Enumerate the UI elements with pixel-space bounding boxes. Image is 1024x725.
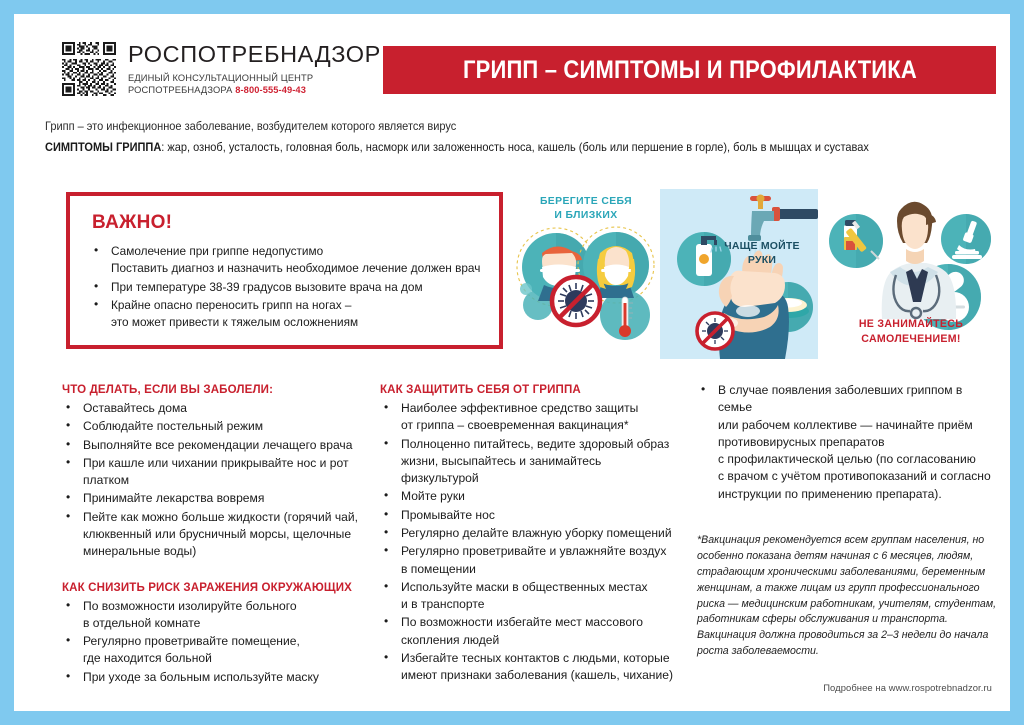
handwashing-illustration: [660, 189, 818, 359]
intro-line-1: Грипп – это инфекционное заболевание, во…: [45, 118, 938, 135]
wash-caption-line1: ЧАЩЕ МОЙТЕ: [724, 240, 799, 252]
left-s1-item-5-cont2: минеральные воды): [83, 543, 370, 560]
important-item-0-text: Самолечение при гриппе недопустимо: [111, 244, 323, 258]
list-item: При уходе за больным используйте маску: [62, 669, 370, 686]
what-to-do-list: Оставайтесь дома Соблюдайте постельный р…: [62, 400, 370, 561]
poster-outer-frame: РОСПОТРЕБНАДЗОР ЕДИНЫЙ КОНСУЛЬТАЦИОННЫЙ …: [0, 0, 1024, 725]
wash-hands-panel: ЧАЩЕ МОЙТЕ РУКИ: [660, 189, 818, 359]
no-virus-sign-small-icon: [696, 312, 734, 350]
list-item: Регулярно проветривайте и увлажняйте воз…: [380, 543, 690, 578]
section-heading-reduce-risk: КАК СНИЗИТЬ РИСК ЗАРАЖЕНИЯ ОКРУЖАЮЩИХ: [62, 580, 348, 594]
no-selfmed-line2: САМОЛЕЧЕНИЕМ!: [861, 333, 960, 345]
left-s1-item-5: Пейте как можно больше жидкости (горячий…: [83, 510, 358, 524]
mid-item-6: Используйте маски в общественных местах: [401, 580, 648, 594]
left-s2-item-0-cont: в отдельной комнате: [83, 615, 370, 632]
left-s1-item-2: Выполняйте все рекомендации лечащего вра…: [83, 438, 352, 452]
mid-item-6-cont: и в транспорте: [401, 596, 690, 613]
intro-line-2: СИМПТОМЫ ГРИППА: жар, озноб, усталость, …: [45, 139, 938, 156]
mid-item-0-cont: от гриппа – своевременная вакцинация*: [401, 417, 690, 434]
hotline-phone: 8-800-555-49-43: [235, 85, 306, 95]
important-item-0-cont: Поставить диагноз и назначить необходимо…: [111, 260, 485, 277]
left-s1-item-0: Оставайтесь дома: [83, 401, 187, 415]
right-item-0-cont2: противовирусных препаратов: [718, 434, 997, 451]
list-item: Пейте как можно больше жидкости (горячий…: [62, 509, 370, 561]
masked-people-illustration: [512, 223, 660, 353]
list-item: Регулярно проветривайте помещение, где н…: [62, 633, 370, 668]
list-item: Соблюдайте постельный режим: [62, 418, 370, 435]
mid-item-1: Полноценно питайтесь, ведите здоровый об…: [401, 437, 669, 451]
list-item: Промывайте нос: [380, 507, 690, 524]
mid-item-8-cont: имеют признаки заболевания (кашель, чиха…: [401, 667, 690, 684]
poster-header: РОСПОТРЕБНАДЗОР ЕДИНЫЙ КОНСУЛЬТАЦИОННЫЙ …: [14, 14, 1010, 102]
left-s1-item-3-cont: платком: [83, 472, 370, 489]
section-heading-what-to-do: ЧТО ДЕЛАТЬ, ЕСЛИ ВЫ ЗАБОЛЕЛИ:: [62, 382, 348, 396]
right-item-0-cont: или рабочем коллективе — начинайте приём: [718, 417, 997, 434]
rospotrebnadzor-logo: РОСПОТРЕБНАДЗОР ЕДИНЫЙ КОНСУЛЬТАЦИОННЫЙ …: [62, 42, 381, 96]
poster: РОСПОТРЕБНАДЗОР ЕДИНЫЙ КОНСУЛЬТАЦИОННЫЙ …: [14, 14, 1010, 711]
wash-caption-line2: РУКИ: [748, 254, 776, 266]
list-item: Мойте руки: [380, 488, 690, 505]
mid-item-7: По возможности избегайте мест массового: [401, 615, 643, 629]
list-item: Оставайтесь дома: [62, 400, 370, 417]
mid-item-8: Избегайте тесных контактов с людьми, кот…: [401, 651, 670, 665]
no-virus-sign-icon: [551, 276, 601, 326]
right-item-0-cont3: с профилактической целью (по согласовани…: [718, 451, 997, 468]
right-item-0-cont5: инструкции по применению препарата).: [718, 486, 997, 503]
no-selfmedication-caption: НЕ ЗАНИМАЙТЕСЬ САМОЛЕЧЕНИЕМ!: [826, 317, 996, 347]
banner-title: ГРИПП – СИМПТОМЫ И ПРОФИЛАКТИКА: [462, 56, 916, 85]
logo-title: РОСПОТРЕБНАДЗОР: [128, 43, 381, 67]
list-item: Самолечение при гриппе недопустимо Поста…: [92, 243, 485, 277]
how-to-protect-list: Наиболее эффективное средство защиты от …: [380, 400, 690, 685]
list-item: Полноценно питайтесь, ведите здоровый об…: [380, 436, 690, 488]
logo-text-block: РОСПОТРЕБНАДЗОР ЕДИНЫЙ КОНСУЛЬТАЦИОННЫЙ …: [128, 42, 381, 96]
symptoms-label: СИМПТОМЫ ГРИППА: [45, 141, 161, 154]
list-item: Крайне опасно переносить грипп на ногах …: [92, 297, 485, 331]
symptoms-list: : жар, озноб, усталость, головная боль, …: [161, 141, 869, 154]
list-item: Регулярно делайте влажную уборку помещен…: [380, 525, 690, 542]
logo-subtitle: ЕДИНЫЙ КОНСУЛЬТАЦИОННЫЙ ЦЕНТР РОСПОТРЕБН…: [128, 72, 381, 97]
doctor-panel: НЕ ЗАНИМАЙТЕСЬ САМОЛЕЧЕНИЕМ!: [826, 189, 996, 359]
qr-code-icon: [62, 42, 116, 96]
mid-item-0: Наиболее эффективное средство защиты: [401, 401, 638, 415]
protect-yourself-panel: БЕРЕГИТЕ СЕБЯ И БЛИЗКИХ: [512, 189, 660, 359]
left-s2-item-1-cont: где находится больной: [83, 650, 370, 667]
mid-item-5-cont: в помещении: [401, 561, 690, 578]
protect-caption-line2: И БЛИЗКИХ: [554, 210, 617, 221]
list-item: Принимайте лекарства вовремя: [62, 490, 370, 507]
left-s2-item-2: При уходе за больным используйте маску: [83, 670, 319, 684]
left-s1-item-3: При кашле или чихании прикрывайте нос и …: [83, 456, 348, 470]
no-selfmed-line1: НЕ ЗАНИМАЙТЕСЬ: [859, 318, 963, 330]
reduce-risk-list: По возможности изолируйте больного в отд…: [62, 598, 370, 686]
left-s1-item-4: Принимайте лекарства вовремя: [83, 491, 264, 505]
illustration-strip: БЕРЕГИТЕ СЕБЯ И БЛИЗКИХ: [512, 189, 996, 359]
mid-item-5: Регулярно проветривайте и увлажняйте воз…: [401, 544, 666, 558]
list-item: По возможности изолируйте больного в отд…: [62, 598, 370, 633]
protect-caption-line1: БЕРЕГИТЕ СЕБЯ: [540, 196, 632, 207]
mid-item-1-cont: жизни, высыпайтесь и занимайтесь: [401, 453, 690, 470]
list-item: При кашле или чихании прикрывайте нос и …: [62, 455, 370, 490]
doctor-illustration: [826, 189, 996, 334]
right-item-0-cont4: с врачом с учётом противопоказаний и сог…: [718, 468, 997, 485]
mid-item-2: Мойте руки: [401, 489, 465, 503]
intro-text: Грипп – это инфекционное заболевание, во…: [45, 118, 985, 157]
important-item-2-cont: это может привести к тяжелым осложнениям: [111, 314, 485, 331]
important-title: ВАЖНО!: [92, 212, 485, 234]
important-item-1-text: При температуре 38-39 градусов вызовите …: [111, 280, 423, 294]
list-item: В случае появления заболевших гриппом в …: [697, 382, 997, 503]
right-item-0: В случае появления заболевших гриппом в …: [718, 383, 962, 414]
list-item: Выполняйте все рекомендации лечащего вра…: [62, 437, 370, 454]
important-box: ВАЖНО! Самолечение при гриппе недопустим…: [66, 192, 503, 349]
list-item: Избегайте тесных контактов с людьми, кот…: [380, 650, 690, 685]
list-item: Наиболее эффективное средство защиты от …: [380, 400, 690, 435]
left-s2-item-0: По возможности изолируйте больного: [83, 599, 297, 613]
column-middle: КАК ЗАЩИТИТЬ СЕБЯ ОТ ГРИППА Наиболее эфф…: [380, 382, 690, 686]
vaccination-footnote: *Вакцинация рекомендуется всем группам н…: [697, 533, 997, 660]
antiviral-advice-list: В случае появления заболевших гриппом в …: [697, 382, 997, 503]
important-list: Самолечение при гриппе недопустимо Поста…: [92, 243, 485, 331]
section-heading-how-to-protect: КАК ЗАЩИТИТЬ СЕБЯ ОТ ГРИППА: [380, 382, 668, 396]
mid-item-7-cont: скопления людей: [401, 632, 690, 649]
left-s2-item-1: Регулярно проветривайте помещение,: [83, 634, 300, 648]
column-right: В случае появления заболевших гриппом в …: [697, 382, 997, 660]
protect-yourself-caption: БЕРЕГИТЕ СЕБЯ И БЛИЗКИХ: [512, 189, 660, 223]
list-item: При температуре 38-39 градусов вызовите …: [92, 279, 485, 296]
girl-with-mask-icon: [597, 246, 635, 298]
website-note: Подробнее на www.rospotrebnadzor.ru: [823, 682, 992, 693]
wash-hands-caption: ЧАЩЕ МОЙТЕ РУКИ: [714, 239, 810, 267]
logo-subtitle-line2: РОСПОТРЕБНАДЗОРА: [128, 85, 232, 95]
logo-subtitle-line1: ЕДИНЫЙ КОНСУЛЬТАЦИОННЫЙ ЦЕНТР: [128, 73, 313, 83]
mid-item-1-cont2: физкультурой: [401, 470, 690, 487]
list-item: По возможности избегайте мест массового …: [380, 614, 690, 649]
list-item: Используйте маски в общественных местах …: [380, 579, 690, 614]
important-item-2-text: Крайне опасно переносить грипп на ногах …: [111, 298, 351, 312]
mid-item-3: Промывайте нос: [401, 508, 495, 522]
mid-item-4: Регулярно делайте влажную уборку помещен…: [401, 526, 672, 540]
section-spacer: [62, 562, 370, 580]
column-left: ЧТО ДЕЛАТЬ, ЕСЛИ ВЫ ЗАБОЛЕЛИ: Оставайтес…: [62, 382, 370, 687]
doctor-figure-icon: [882, 202, 956, 319]
left-s1-item-5-cont: клюквенный или брусничный морсы, щелочны…: [83, 526, 370, 543]
left-s1-item-1: Соблюдайте постельный режим: [83, 419, 263, 433]
title-banner: ГРИПП – СИМПТОМЫ И ПРОФИЛАКТИКА: [383, 46, 996, 94]
